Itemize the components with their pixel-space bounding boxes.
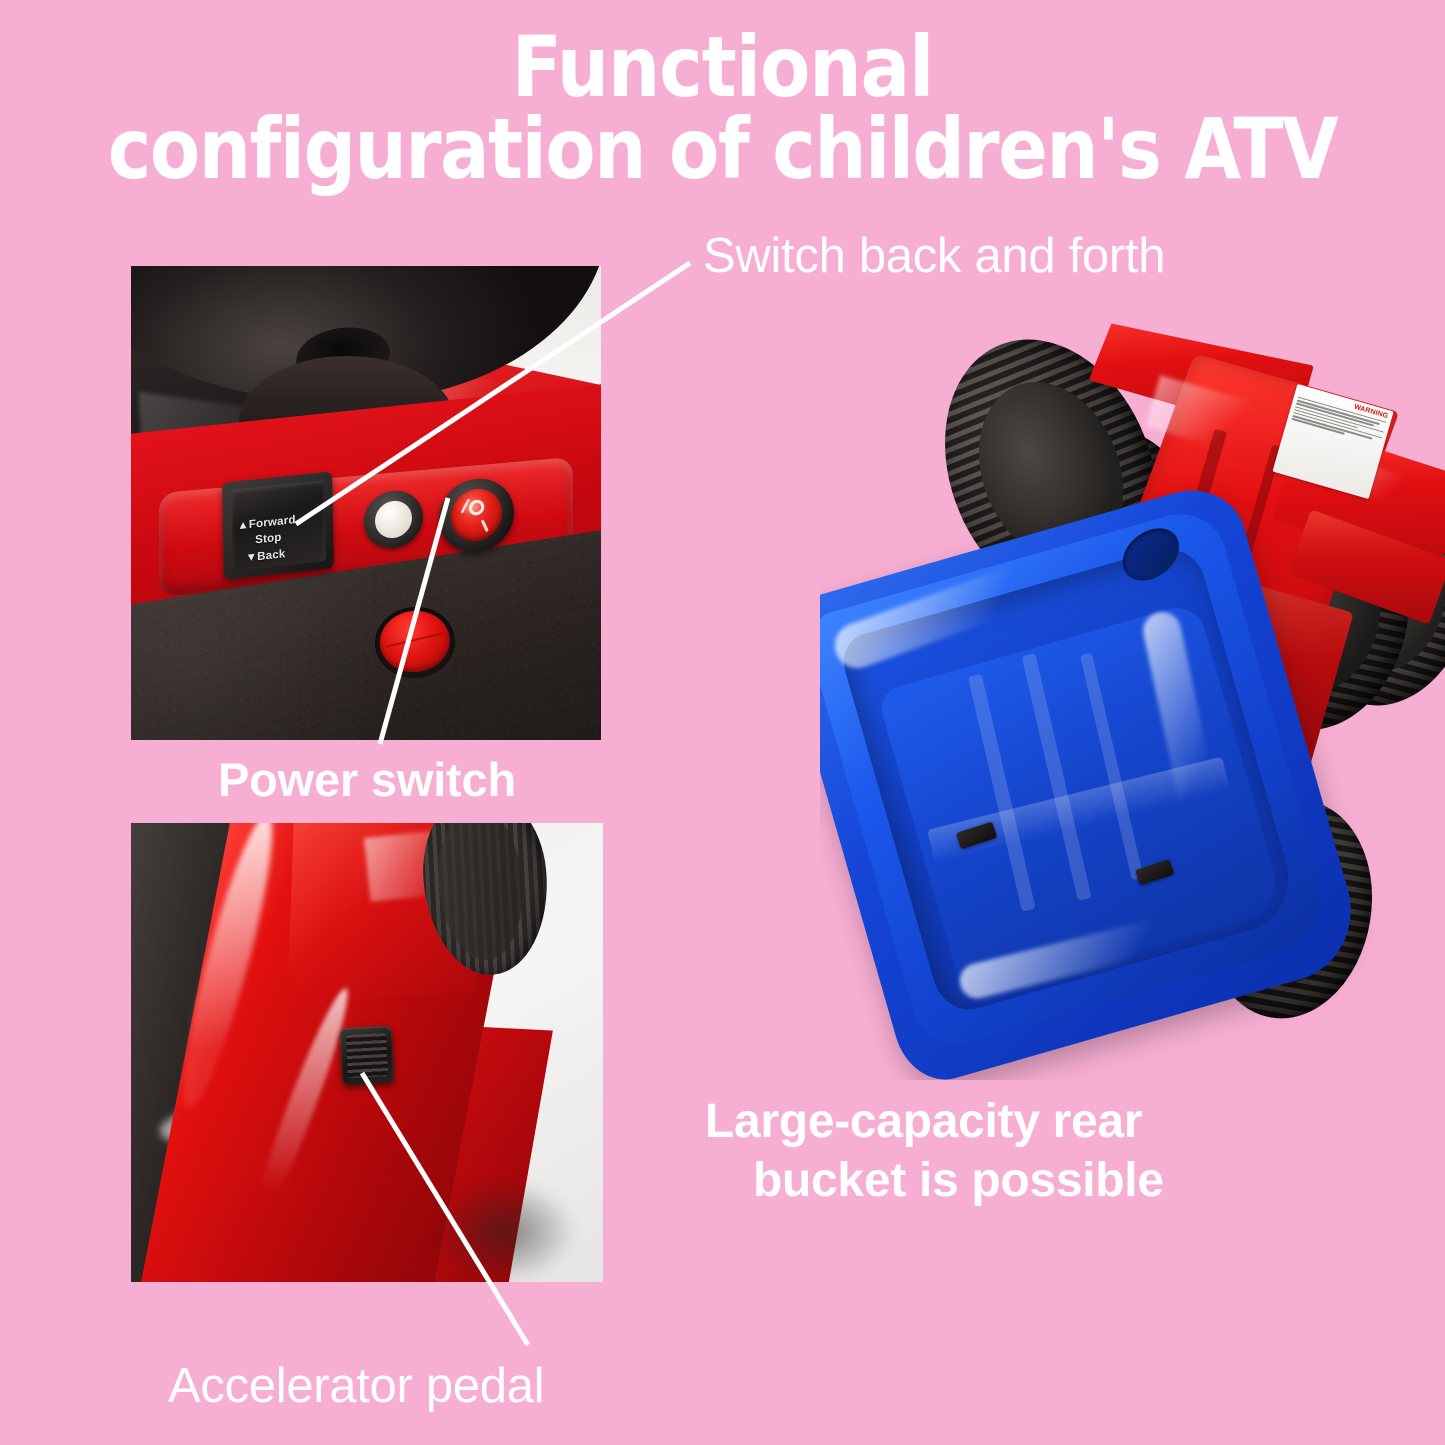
power-switch-button[interactable] <box>451 487 502 543</box>
callout-power-switch: Power switch <box>218 752 516 807</box>
atv-assembly: WARNING <box>820 320 1445 1080</box>
callout-rear-bucket-line-1: Large-capacity rear <box>705 1093 1245 1152</box>
steering-wheel-gloss <box>131 266 374 275</box>
page-title-line-1: Functional <box>22 26 1424 108</box>
red-knob[interactable] <box>377 607 453 675</box>
white-round-button[interactable] <box>374 499 412 540</box>
poster-canvas: Functional configuration of children's A… <box>0 0 1445 1445</box>
dashboard-control-panel-photo: ▲Forward Stop ▼Back <box>131 266 601 740</box>
tire-sidewall <box>432 823 529 964</box>
callout-accelerator-pedal: Accelerator pedal <box>168 1358 544 1414</box>
atv-top-view-photo: WARNING <box>820 320 1445 1080</box>
page-title: Functional configuration of children's A… <box>22 26 1424 191</box>
floor-shadow <box>433 1181 575 1282</box>
callout-switch-back-and-forth: Switch back and forth <box>703 228 1165 284</box>
direction-switch[interactable]: ▲Forward Stop ▼Back <box>222 471 334 580</box>
power-onoff-icon <box>451 487 502 543</box>
accelerator-pedal-photo <box>131 823 603 1282</box>
accelerator-pedal[interactable] <box>340 1026 395 1086</box>
page-title-line-2: configuration of children's ATV <box>22 108 1424 190</box>
pedal-grip-ribs <box>346 1033 388 1079</box>
callout-rear-bucket: Large-capacity rear bucket is possible <box>705 1093 1245 1210</box>
callout-rear-bucket-line-2: bucket is possible <box>705 1152 1245 1211</box>
red-knob-slot <box>386 633 444 648</box>
